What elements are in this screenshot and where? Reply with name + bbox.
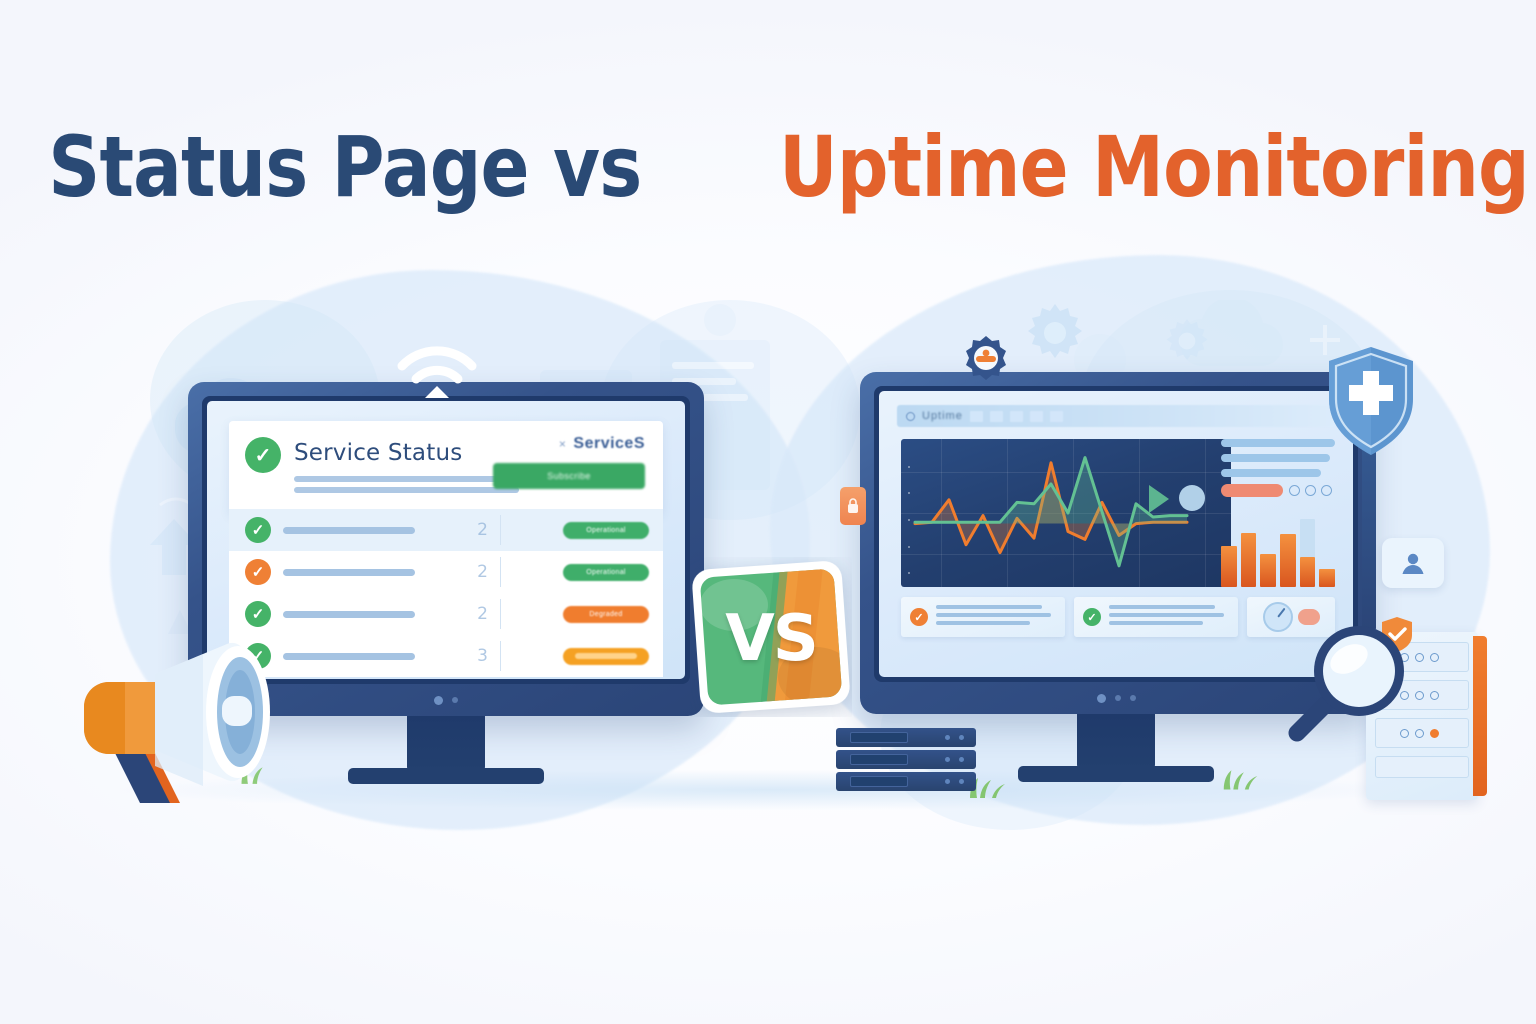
bar-column	[1241, 519, 1257, 587]
status-card[interactable]: ✓	[1074, 597, 1238, 637]
gear-icon	[1022, 300, 1088, 366]
monitor-neck-left	[407, 716, 485, 772]
bar-column	[1260, 519, 1276, 587]
bar	[1221, 546, 1237, 587]
status-card[interactable]: ✓	[901, 597, 1065, 637]
server-unit	[836, 728, 976, 747]
bar	[1241, 533, 1257, 587]
bar-column	[1280, 519, 1296, 587]
status-rings	[1289, 485, 1332, 496]
megaphone-icon	[62, 620, 317, 820]
alert-pill	[1221, 484, 1283, 497]
subscribe-button[interactable]: Subscribe	[493, 463, 645, 489]
shield-pole	[1362, 430, 1376, 630]
row-divider	[500, 515, 501, 545]
wifi-icon	[392, 336, 482, 400]
led-indicator	[1130, 695, 1136, 701]
page-title: Status Page vs Uptime Monitoring	[0, 118, 1536, 216]
bar	[1319, 569, 1335, 587]
title-part-status-page: Status Page vs	[48, 118, 641, 216]
monitor-base-right	[1018, 766, 1214, 782]
row-divider	[500, 557, 501, 587]
grass-decor	[1218, 764, 1264, 790]
row-status-check-icon: ✓	[245, 517, 271, 543]
status-badge: Degraded	[563, 606, 649, 623]
power-indicator	[1097, 694, 1106, 703]
status-badge: Operational	[563, 564, 649, 581]
row-label-placeholder	[283, 569, 415, 576]
illustration-canvas: Status Page vs Uptime Monitoring ✓ Servi…	[0, 0, 1536, 1024]
service-brand-logo: × ServiceS	[559, 435, 645, 453]
title-part-uptime-monitoring: Uptime Monitoring	[779, 118, 1529, 216]
row-metric-value: 2	[477, 562, 488, 582]
user-glyph	[1398, 548, 1428, 578]
rack-accent-bar	[1473, 636, 1487, 796]
logo-text: ServiceS	[573, 435, 645, 453]
lock-glyph	[846, 497, 860, 515]
bar	[1260, 554, 1276, 587]
logo-x-mark: ×	[559, 437, 567, 451]
table-row[interactable]: ✓ 2 Operational	[229, 509, 663, 551]
status-cards-row: ✓ ✓	[901, 597, 1335, 637]
row-divider	[500, 599, 501, 629]
monitor-base-left	[348, 768, 544, 784]
dashboard-side-panel	[1221, 439, 1335, 497]
row-label-placeholder	[283, 527, 415, 534]
play-triangle-icon	[1149, 485, 1169, 513]
bar-column	[1300, 519, 1316, 587]
bar	[1300, 557, 1316, 587]
row-label-placeholder	[283, 611, 415, 618]
lock-icon	[840, 487, 866, 525]
service-status-header: ✓ Service Status × ServiceS Su	[229, 421, 663, 514]
card-status-check-icon: ✓	[1083, 608, 1101, 626]
indicator-dot	[1179, 485, 1205, 511]
settings-badge-icon	[962, 334, 1010, 382]
card-status-check-icon: ✓	[910, 608, 928, 626]
uptime-line-chart	[901, 439, 1231, 587]
led-indicator	[452, 697, 458, 703]
vs-badge: VS	[690, 557, 852, 717]
service-status-card: ✓ Service Status × ServiceS Su	[229, 421, 663, 514]
bar	[1280, 534, 1296, 587]
card-placeholder-lines	[936, 605, 1056, 629]
server-stack-icon	[836, 728, 976, 800]
vs-label: VS	[690, 559, 852, 719]
status-ok-check-icon: ✓	[245, 437, 281, 473]
status-badge	[563, 648, 649, 665]
status-ring-icon	[906, 412, 915, 421]
bar-column	[1221, 519, 1237, 587]
server-unit	[836, 772, 976, 791]
uptime-dashboard-screen[interactable]: Uptime	[879, 391, 1353, 677]
row-divider	[500, 641, 501, 671]
power-indicator	[434, 696, 443, 705]
monitor-neck-right	[1077, 714, 1155, 770]
card-placeholder-lines	[1109, 605, 1229, 629]
row-status-check-icon: ✓	[245, 559, 271, 585]
led-indicator	[1115, 695, 1121, 701]
gear-icon	[1162, 316, 1212, 366]
shield-plus-icon	[1325, 345, 1417, 457]
row-metric-value: 2	[477, 604, 488, 624]
server-unit	[836, 750, 976, 769]
bar-column	[1319, 519, 1335, 587]
incident-bar-chart	[1221, 519, 1335, 587]
dashboard-header-text: Uptime	[922, 410, 963, 422]
row-metric-value: 3	[477, 646, 488, 666]
table-row[interactable]: ✓ 2 Operational	[229, 551, 663, 593]
user-avatar-icon	[1382, 538, 1444, 588]
status-badge: Operational	[563, 522, 649, 539]
dashboard-header-bar: Uptime	[897, 405, 1335, 427]
rack-unit	[1375, 756, 1469, 778]
row-metric-value: 2	[477, 520, 488, 540]
uptime-chart-panel[interactable]	[901, 439, 1231, 587]
magnifying-glass-icon	[1283, 612, 1418, 747]
